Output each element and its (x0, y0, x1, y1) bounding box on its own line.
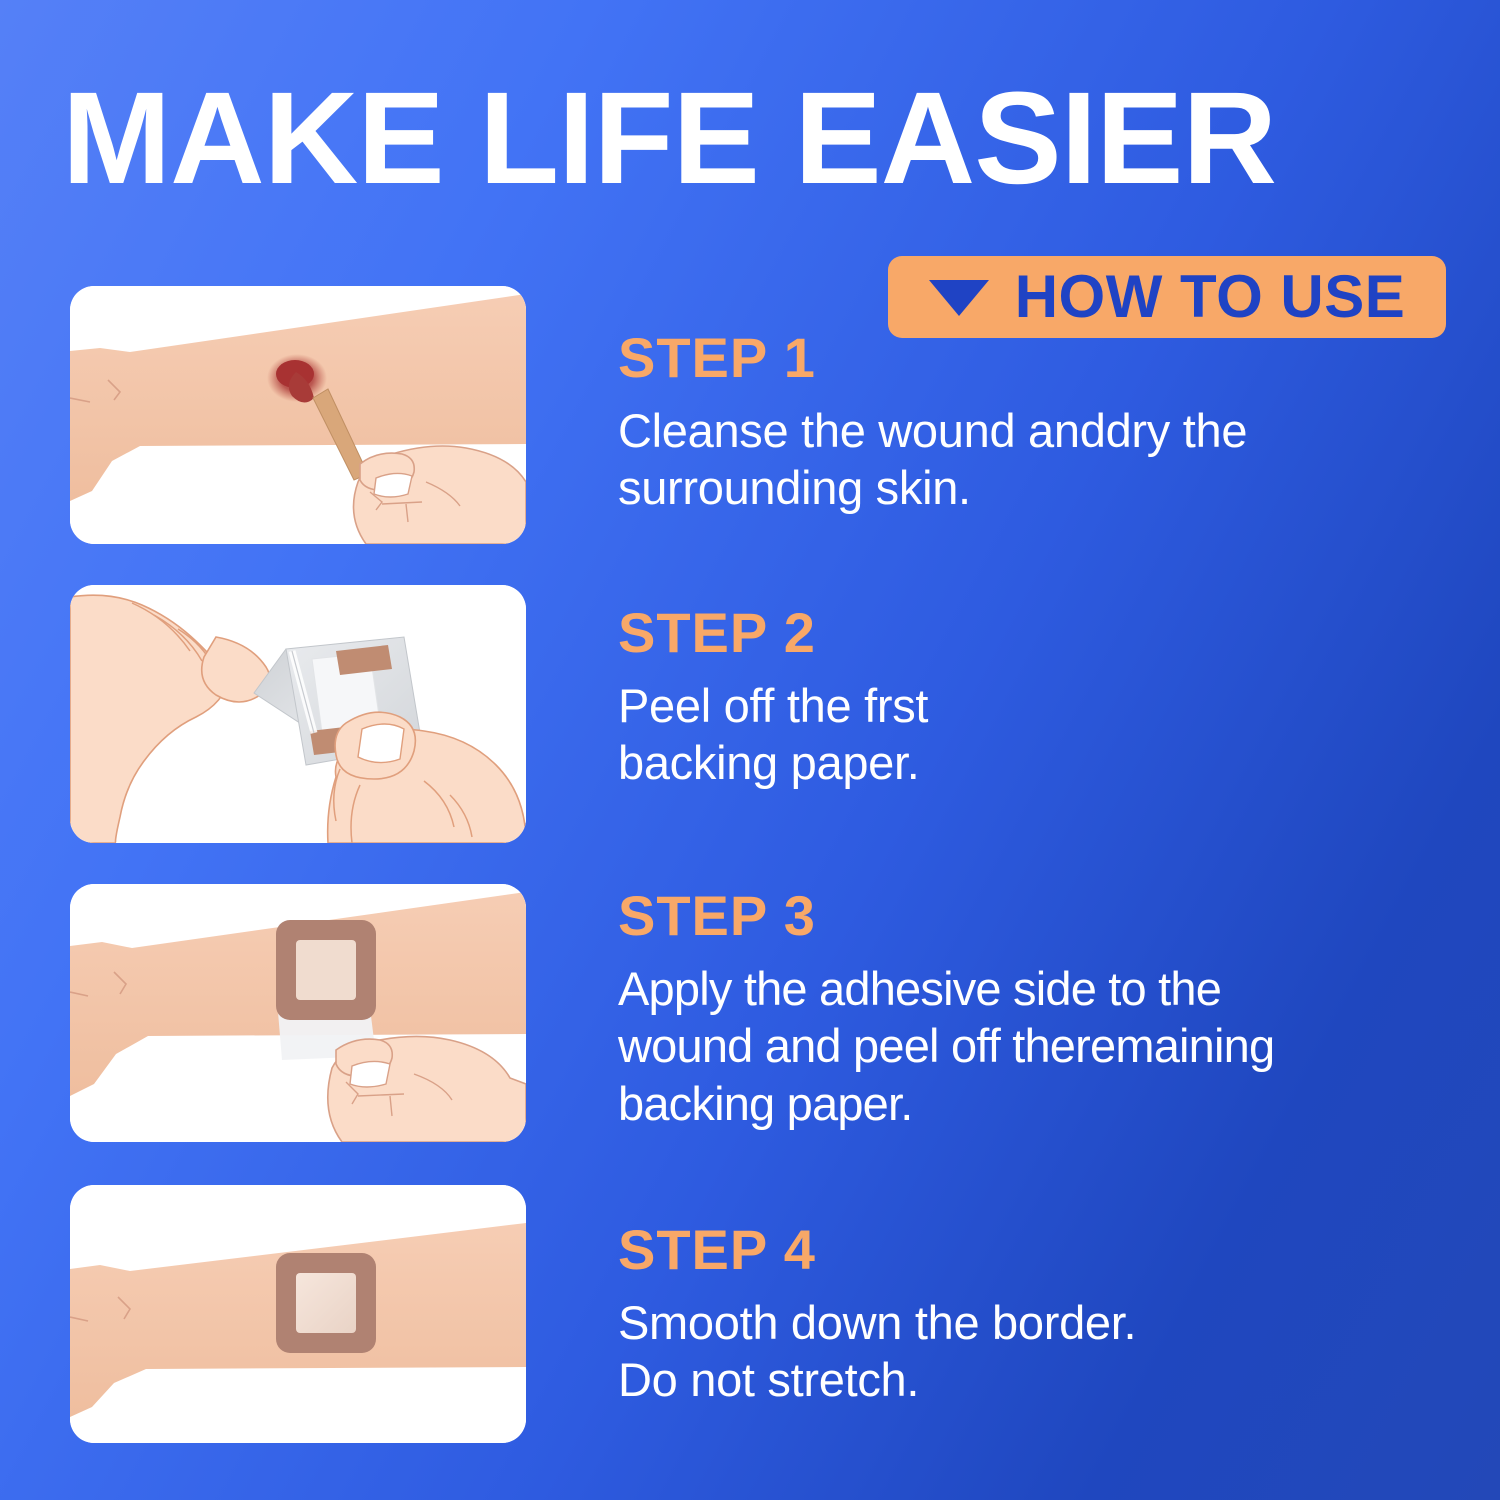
step-block-3: STEP 3 Apply the adhesive side to the wo… (618, 888, 1418, 1132)
step-body-2: Peel off the frst backing paper. (618, 677, 1418, 792)
step-title-1: STEP 1 (618, 330, 1418, 386)
right-thumbnail (358, 724, 404, 763)
illustration-card-step-3 (70, 884, 526, 1142)
triangle-down-icon (929, 280, 989, 316)
how-to-use-label: HOW TO USE (1015, 267, 1406, 327)
page-title: MAKE LIFE EASIER (62, 72, 1462, 203)
two-hands-peeling-backing-paper-illustration (70, 585, 526, 843)
step-block-2: STEP 2 Peel off the frst backing paper. (618, 605, 1418, 792)
step-title-4: STEP 4 (618, 1222, 1418, 1278)
bandage-pad (296, 1273, 356, 1333)
forearm-with-wound-and-cotton-swab-illustration (70, 286, 526, 544)
step-block-4: STEP 4 Smooth down the border. Do not st… (618, 1222, 1418, 1409)
thumbnail (374, 473, 412, 497)
arm-with-bandage-applied-and-hand-peeling-illustration (70, 884, 526, 1142)
illustration-card-step-4 (70, 1185, 526, 1443)
step-body-4: Smooth down the border. Do not stretch. (618, 1294, 1418, 1409)
illustration-card-step-2 (70, 585, 526, 843)
step-title-3: STEP 3 (618, 888, 1418, 944)
step-title-2: STEP 2 (618, 605, 1418, 661)
step-block-1: STEP 1 Cleanse the wound anddry the surr… (618, 330, 1418, 517)
illustration-card-step-1 (70, 286, 526, 544)
step-body-3: Apply the adhesive side to the wound and… (618, 960, 1418, 1132)
step-body-1: Cleanse the wound anddry the surrounding… (618, 402, 1418, 517)
poster-canvas: MAKE LIFE EASIER HOW TO USE (0, 0, 1500, 1500)
arm-with-finished-bandage-illustration (70, 1185, 526, 1443)
thumbnail (350, 1061, 390, 1087)
how-to-use-badge[interactable]: HOW TO USE (888, 256, 1446, 338)
bandage-pad (296, 940, 356, 1000)
